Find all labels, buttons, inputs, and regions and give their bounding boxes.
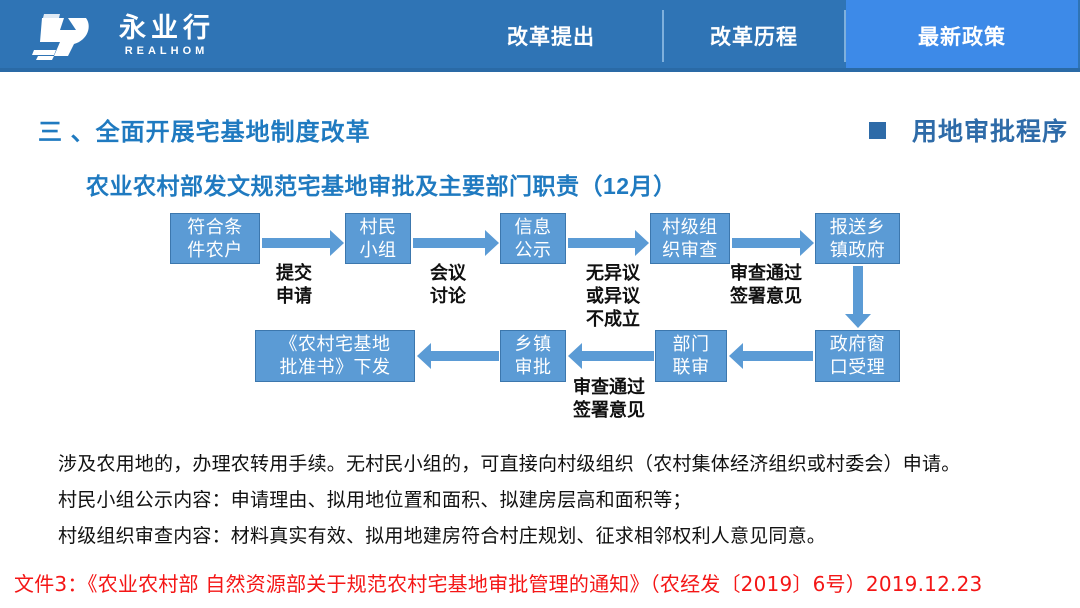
- note-line-3: 村级组织审查内容：材料真实有效、拟用地建房符合村庄规划、征求相邻权利人意见同意。: [58, 518, 1058, 554]
- source-footnote: 文件3：《农业农村部 自然资源部关于规范农村宅基地审批管理的通知》（农经发〔20…: [14, 568, 982, 597]
- note-line-1: 涉及农用地的，办理农转用手续。无村民小组的，可直接向村级组织（农村集体经济组织或…: [58, 446, 1058, 482]
- flow-arrow-1: [262, 230, 344, 256]
- flow-node-joint-department-review[interactable]: 部门 联审: [655, 330, 727, 382]
- flow-arrow-2: [413, 230, 499, 256]
- flow-node-information-disclosure[interactable]: 信息 公示: [500, 213, 566, 264]
- flow-arrow-6: [568, 343, 654, 369]
- flow-arrow-7: [417, 343, 499, 369]
- flow-arrow-5: [729, 343, 813, 369]
- flow-edge-label-review-passed-bottom: 审查通过 签署意见: [573, 376, 645, 422]
- flow-node-villager-group[interactable]: 村民 小组: [345, 213, 411, 264]
- note-line-2: 村民小组公示内容：申请理由、拟用地位置和面积、拟建房层高和面积等；: [58, 482, 1058, 518]
- flow-edge-label-review-passed-top: 审查通过 签署意见: [730, 262, 802, 308]
- flow-arrow-3: [568, 230, 649, 256]
- flow-node-submit-township-gov[interactable]: 报送乡 镇政府: [815, 213, 900, 264]
- flow-arrow-4: [732, 230, 814, 256]
- flow-arrow-down: [845, 266, 871, 328]
- notes-block: 涉及农用地的，办理农转用手续。无村民小组的，可直接向村级组织（农村集体经济组织或…: [58, 446, 1058, 554]
- flow-node-approval-certificate-issued[interactable]: 《农村宅基地 批准书》下发: [255, 330, 415, 382]
- flow-edge-label-no-objection: 无异议 或异议 不成立: [586, 262, 640, 331]
- flow-node-village-review[interactable]: 村级组 织审查: [650, 213, 730, 264]
- flow-edge-label-meeting-discussion: 会议 讨论: [430, 262, 466, 308]
- flow-node-township-approval[interactable]: 乡镇 审批: [500, 330, 566, 382]
- flow-node-qualified-household[interactable]: 符合条 件农户: [170, 213, 260, 264]
- flow-node-gov-window-acceptance[interactable]: 政府窗 口受理: [815, 330, 900, 382]
- flow-edge-label-submit-application: 提交 申请: [276, 262, 312, 308]
